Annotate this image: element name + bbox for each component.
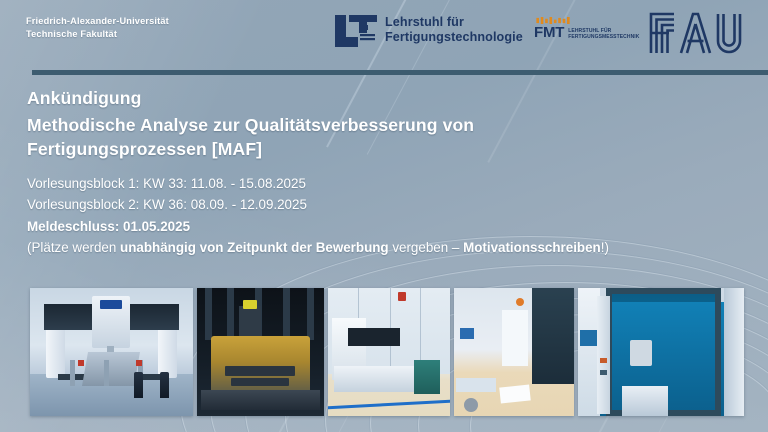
photo5-machine-table xyxy=(622,386,668,416)
photo4-dark-cabinet xyxy=(532,288,574,384)
photo1-probe-cone xyxy=(134,372,143,398)
photo1-red-marker xyxy=(136,360,142,366)
university-name: Friedrich-Alexander-Universität Technisc… xyxy=(26,15,169,40)
fau-mark-icon xyxy=(648,11,744,55)
photo2-vertical-bar xyxy=(283,288,290,340)
photo-strip xyxy=(30,288,744,416)
presentation-slide: Friedrich-Alexander-Universität Technisc… xyxy=(0,0,768,432)
photo4-monitor xyxy=(460,328,474,339)
photo3-machine-table xyxy=(334,366,414,392)
fmt-mark-text: FMT xyxy=(534,25,564,40)
university-name-line1: Friedrich-Alexander-Universität xyxy=(26,15,169,28)
photo2-vertical-bar xyxy=(205,288,212,340)
photo2-base-plate xyxy=(201,390,320,410)
application-note-part1: (Plätze werden xyxy=(27,240,120,255)
fmt-signal-icon xyxy=(534,17,572,24)
photo3-machine-window xyxy=(348,328,400,346)
application-note-bold1: unabhängig von Zeitpunkt der Bewerbung xyxy=(120,240,389,255)
photo1-zeiss-badge xyxy=(100,300,122,309)
photo1-workpiece xyxy=(82,352,140,386)
course-title: Methodische Analyse zur Qualitätsverbess… xyxy=(27,113,739,162)
photo5-control-screen xyxy=(580,330,597,346)
application-note-part3: !) xyxy=(601,240,609,255)
photo5-button xyxy=(600,358,607,363)
photo3-green-cabinet xyxy=(414,360,440,394)
photo2-detail xyxy=(225,366,295,376)
lft-logo-text: Lehrstuhl für Fertigungstechnologie xyxy=(385,15,523,45)
registration-deadline: Meldeschluss: 01.05.2025 xyxy=(27,216,739,238)
fau-logo xyxy=(648,11,744,60)
course-title-line1: Methodische Analyse zur Qualitätsverbess… xyxy=(27,113,739,138)
photo5-control-column xyxy=(597,296,610,414)
photo1-probe-cone xyxy=(160,372,169,398)
photo2-vertical-bar xyxy=(307,288,314,340)
photo4-paper xyxy=(499,384,531,403)
photo5-tool-spindle xyxy=(630,340,652,366)
slide-header: Friedrich-Alexander-Universität Technisc… xyxy=(0,0,768,66)
photo-lab-room xyxy=(454,288,574,416)
application-note: (Plätze werden unabhängig von Zeitpunkt … xyxy=(27,237,739,259)
lft-logo-text-line1: Lehrstuhl für xyxy=(385,15,523,30)
photo4-white-panel xyxy=(502,310,528,366)
header-divider xyxy=(32,70,768,75)
lft-logo-text-line2: Fertigungstechnologie xyxy=(385,30,523,45)
lft-mark-icon xyxy=(333,13,377,47)
photo2-vertical-bar xyxy=(227,288,234,340)
course-title-line2: Fertigungsprozessen [MAF] xyxy=(27,137,739,162)
lecture-block-1: Vorlesungsblock 1: KW 33: 11.08. - 15.08… xyxy=(27,173,739,195)
photo-blue-machine xyxy=(578,288,744,416)
photo1-red-marker xyxy=(78,360,84,366)
photo-cmm-zeiss-prismo xyxy=(30,288,193,416)
photo-measurement-lab xyxy=(328,288,450,416)
photo5-right-housing xyxy=(724,288,744,416)
photo2-head-block xyxy=(239,306,261,336)
lft-logo: Lehrstuhl für Fertigungstechnologie xyxy=(333,13,523,47)
photo1-stand xyxy=(104,360,109,386)
application-note-bold2: Motivationsschreiben xyxy=(463,240,601,255)
photo4-chair xyxy=(464,398,478,412)
photo2-detail xyxy=(231,378,289,386)
photo4-orange-object xyxy=(516,298,524,306)
fmt-logo-subtext-line2: FERTIGUNGSMESSTECHNIK xyxy=(568,34,639,40)
photo3-red-sign xyxy=(398,292,406,301)
fmt-logo-subtext: LEHRSTUHL FÜR FERTIGUNGSMESSTECHNIK xyxy=(568,28,639,40)
photo1-stand xyxy=(70,360,75,386)
fmt-logo: FMT LEHRSTUHL FÜR FERTIGUNGSMESSTECHNIK xyxy=(534,17,640,40)
application-note-part2: vergeben – xyxy=(389,240,463,255)
photo4-desk xyxy=(456,378,496,392)
photo5-button xyxy=(600,370,607,375)
announcement-heading: Ankündigung xyxy=(27,86,739,111)
photo-measuring-device-dark xyxy=(197,288,324,416)
photo2-yellow-lamp xyxy=(243,300,257,309)
university-name-line2: Technische Fakultät xyxy=(26,28,169,41)
slide-content: Ankündigung Methodische Analyse zur Qual… xyxy=(27,86,739,259)
lecture-block-2: Vorlesungsblock 2: KW 36: 08.09. - 12.09… xyxy=(27,194,739,216)
course-details: Vorlesungsblock 1: KW 33: 11.08. - 15.08… xyxy=(27,173,739,259)
